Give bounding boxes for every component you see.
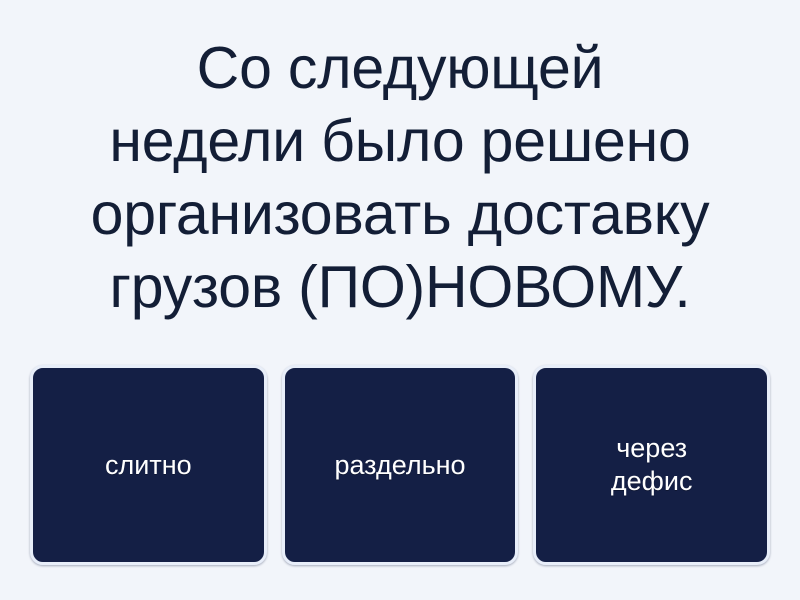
question-area: Со следующей недели было решено организо… [0, 0, 800, 352]
answer-option-1-label: слитно [105, 449, 192, 482]
answer-option-3[interactable]: через дефис [533, 365, 770, 565]
answer-option-1[interactable]: слитно [30, 365, 267, 565]
answer-option-3-label: через дефис [611, 432, 693, 498]
answer-option-2-label: раздельно [334, 449, 465, 482]
answer-options-row: слитно раздельно через дефис [0, 352, 800, 600]
quiz-question-screen: Со следующей недели было решено организо… [0, 0, 800, 600]
question-text: Со следующей недели было решено организо… [14, 32, 786, 324]
answer-option-2[interactable]: раздельно [282, 365, 519, 565]
